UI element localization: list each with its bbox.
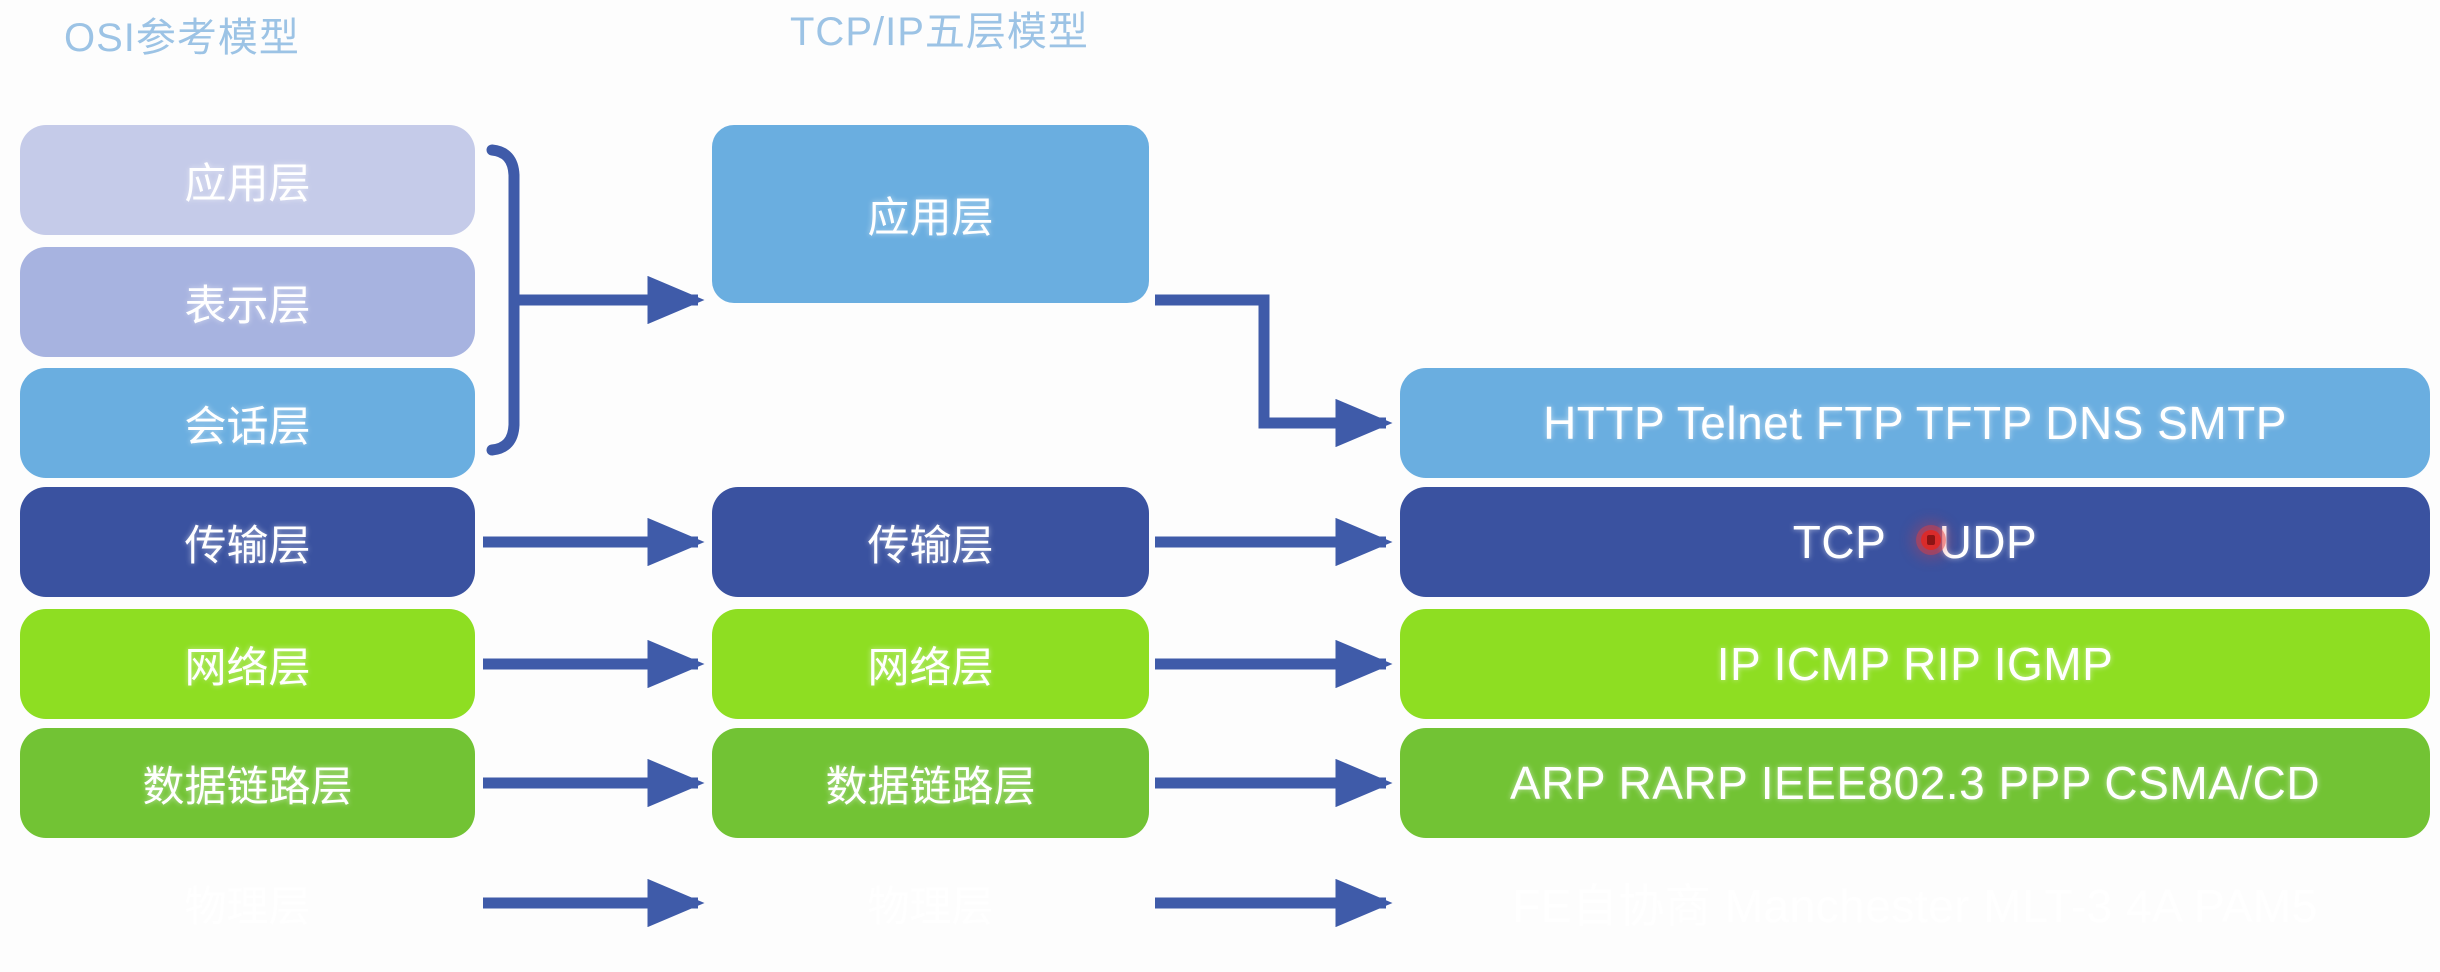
tcpip-layer-label: 应用层	[867, 184, 993, 245]
tcpip-layer-network[interactable]: 网络层	[712, 609, 1149, 719]
osi-column-title: OSI参考模型	[64, 18, 300, 58]
osi-layer-label: 传输层	[184, 512, 310, 573]
protocol-row-label: FE自协商 Manchester MLT-3 4A PAM5	[1512, 870, 2318, 936]
tcpip-layer-label: 物理层	[867, 873, 993, 934]
tcpip-layer-label: 传输层	[867, 512, 993, 573]
osi-layer-data-link[interactable]: 数据链路层	[20, 728, 475, 838]
osi-layer-label: 物理层	[184, 873, 310, 934]
tcpip-column-title: TCP/IP五层模型	[790, 12, 1089, 52]
tcpip-layer-data-link[interactable]: 数据链路层	[712, 728, 1149, 838]
protocol-row-label: TCP UDP	[1793, 515, 2037, 569]
osi-layer-physical[interactable]: 物理层	[20, 848, 475, 958]
protocol-row-application[interactable]: HTTP Telnet FTP TFTP DNS SMTP	[1400, 368, 2430, 478]
arrow-tcpip-application-to-protocol-application	[1155, 300, 1386, 423]
osi-layer-application[interactable]: 应用层	[20, 125, 475, 235]
diagram-canvas: OSI参考模型 TCP/IP五层模型 应用层 表示层 会话层 传输层 网络层 数…	[0, 0, 2440, 972]
osi-layer-transport[interactable]: 传输层	[20, 487, 475, 597]
laser-pointer-dot	[1921, 530, 1941, 550]
protocol-row-physical[interactable]: FE自协商 Manchester MLT-3 4A PAM5	[1400, 848, 2430, 958]
protocol-row-label: HTTP Telnet FTP TFTP DNS SMTP	[1543, 396, 2287, 450]
protocol-row-label: ARP RARP IEEE802.3 PPP CSMA/CD	[1510, 756, 2320, 810]
protocol-row-transport[interactable]: TCP UDP	[1400, 487, 2430, 597]
tcpip-layer-application[interactable]: 应用层	[712, 125, 1149, 303]
tcpip-layer-physical[interactable]: 物理层	[712, 848, 1149, 958]
osi-layer-label: 网络层	[184, 634, 310, 695]
protocol-row-network[interactable]: IP ICMP RIP IGMP	[1400, 609, 2430, 719]
osi-layer-label: 会话层	[184, 393, 310, 454]
tcpip-layer-label: 数据链路层	[825, 753, 1035, 814]
osi-layer-label: 应用层	[184, 150, 310, 211]
osi-layer-network[interactable]: 网络层	[20, 609, 475, 719]
osi-layer-presentation[interactable]: 表示层	[20, 247, 475, 357]
osi-layer-label: 表示层	[184, 272, 310, 333]
tcpip-layer-label: 网络层	[867, 634, 993, 695]
protocol-row-data-link[interactable]: ARP RARP IEEE802.3 PPP CSMA/CD	[1400, 728, 2430, 838]
osi-layer-label: 数据链路层	[142, 753, 352, 814]
osi-group-bracket	[492, 150, 514, 450]
osi-layer-session[interactable]: 会话层	[20, 368, 475, 478]
protocol-row-label: IP ICMP RIP IGMP	[1717, 637, 2114, 691]
tcpip-layer-transport[interactable]: 传输层	[712, 487, 1149, 597]
